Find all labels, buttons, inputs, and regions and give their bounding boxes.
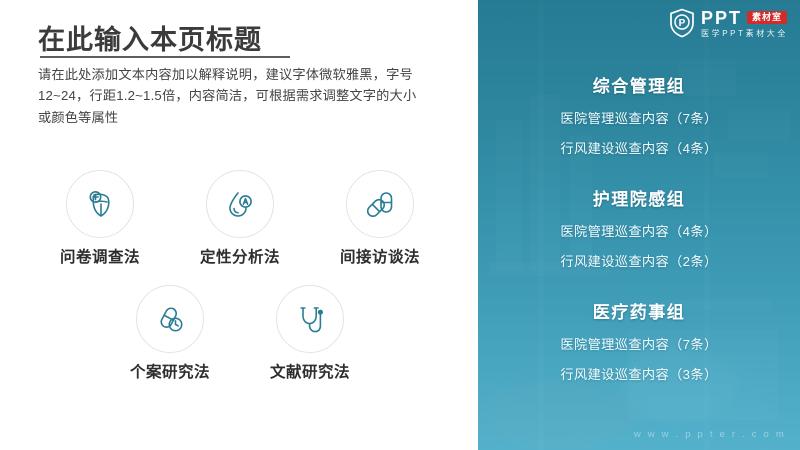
method-item-literature[interactable]: 文献研究法: [240, 285, 380, 382]
capsules-icon: [346, 170, 414, 238]
logo-badge: 素材室: [747, 11, 787, 24]
droplet-a-icon: [206, 170, 274, 238]
method-label: 间接访谈法: [340, 245, 420, 267]
right-teal-panel: 综合管理组 医院管理巡查内容（7条） 行风建设巡查内容（4条） 护理院感组 医院…: [478, 0, 800, 450]
group-block-nursing-infection: 护理院感组 医院管理巡查内容（4条） 行风建设巡查内容（2条）: [478, 185, 800, 270]
logo-top-row: PPT 素材室: [701, 9, 788, 27]
group-title: 医疗药事组: [478, 298, 800, 323]
method-label: 文献研究法: [270, 360, 350, 382]
group-block-general-management: 综合管理组 医院管理巡查内容（7条） 行风建设巡查内容（4条）: [478, 72, 800, 157]
left-content-panel: 在此输入本页标题 请在此处添加文本内容加以解释说明，建议字体微软雅黑，字号12~…: [0, 0, 478, 450]
method-label: 个案研究法: [130, 360, 210, 382]
method-row-bottom: 个案研究法 文献研究法: [0, 285, 478, 382]
method-item-qualitative[interactable]: 定性分析法: [170, 170, 310, 267]
stethoscope-icon: [276, 285, 344, 353]
site-watermark: w w w . p p t e r . c o m: [634, 429, 786, 440]
method-item-case-study[interactable]: 个案研究法: [100, 285, 240, 382]
inspection-groups: 综合管理组 医院管理巡查内容（7条） 行风建设巡查内容（4条） 护理院感组 医院…: [478, 0, 800, 450]
shield-p-icon: P: [669, 8, 695, 38]
method-icon-grid: 问卷调查法 定性分析法: [0, 170, 478, 382]
group-line: 行风建设巡查内容（3条）: [478, 364, 800, 383]
slide-root: 在此输入本页标题 请在此处添加文本内容加以解释说明，建议字体微软雅黑，字号12~…: [0, 0, 800, 450]
method-item-interview[interactable]: 间接访谈法: [310, 170, 450, 267]
method-label: 定性分析法: [200, 245, 280, 267]
brand-logo[interactable]: P PPT 素材室 医学PPT素材大全: [669, 8, 788, 38]
page-title: 在此输入本页标题: [38, 18, 262, 57]
group-line: 医院管理巡查内容（7条）: [478, 108, 800, 127]
logo-text-block: PPT 素材室 医学PPT素材大全: [701, 9, 788, 38]
page-body-text: 请在此处添加文本内容加以解释说明，建议字体微软雅黑，字号12~24，行距1.2~…: [38, 64, 428, 128]
shield-letter: P: [679, 18, 686, 29]
group-block-medical-pharmacy: 医疗药事组 医院管理巡查内容（7条） 行风建设巡查内容（3条）: [478, 298, 800, 383]
group-line: 行风建设巡查内容（2条）: [478, 251, 800, 270]
group-title: 护理院感组: [478, 185, 800, 210]
logo-subtitle: 医学PPT素材大全: [701, 30, 788, 38]
method-item-questionnaire[interactable]: 问卷调查法: [30, 170, 170, 267]
logo-brand: PPT: [701, 9, 742, 27]
group-line: 行风建设巡查内容（4条）: [478, 138, 800, 157]
group-line: 医院管理巡查内容（4条）: [478, 221, 800, 240]
group-title: 综合管理组: [478, 72, 800, 97]
group-line: 医院管理巡查内容（7条）: [478, 334, 800, 353]
capsule-clock-icon: [136, 285, 204, 353]
method-label: 问卷调查法: [60, 245, 140, 267]
shield-plus-icon: [66, 170, 134, 238]
title-underline: [40, 56, 290, 58]
method-row-top: 问卷调查法 定性分析法: [0, 170, 478, 267]
